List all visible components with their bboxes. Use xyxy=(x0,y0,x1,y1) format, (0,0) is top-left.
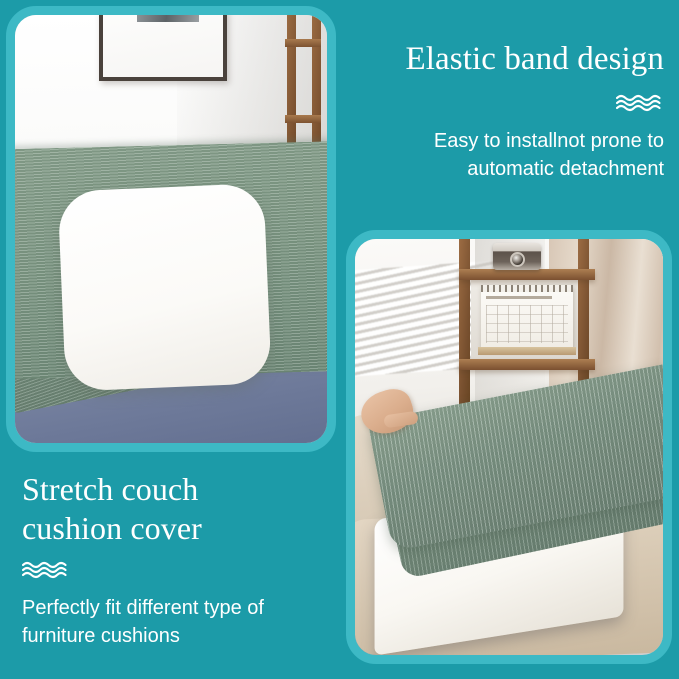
green-ribbed-cover xyxy=(15,141,327,380)
desk-calendar xyxy=(481,285,573,349)
calendar-header xyxy=(486,296,552,299)
wave-divider xyxy=(22,560,322,582)
shelf-board-top xyxy=(285,39,321,47)
text-block-bottom-left: Stretch couch cushion cover Perfectly fi… xyxy=(22,470,322,651)
product-feature-graphic: Elastic band design Easy to installnot p… xyxy=(0,0,679,679)
photo-top-left-scene xyxy=(15,15,327,443)
text-block-top-right: Elastic band design Easy to installnot p… xyxy=(352,40,664,183)
wave-divider xyxy=(352,93,664,115)
calendar-spiral-binding xyxy=(481,285,573,292)
subtext-perfectly-fit: Perfectly fit different type of furnitur… xyxy=(22,594,322,651)
headline-stretch-couch-cushion-cover: Stretch couch cushion cover xyxy=(22,470,322,548)
photo-right-scene xyxy=(355,239,663,655)
calendar-date-grid xyxy=(486,305,568,343)
white-cushion xyxy=(58,183,272,391)
shelf-board-top xyxy=(459,269,595,280)
shelf-board-middle xyxy=(285,115,321,123)
wave-divider-icon xyxy=(22,560,70,580)
frame-artwork xyxy=(137,15,199,22)
subtext-easy-to-install: Easy to installnot prone to automatic de… xyxy=(352,127,664,184)
framed-picture xyxy=(99,15,227,81)
headline-elastic-band-design: Elastic band design xyxy=(352,40,664,79)
shelf-board-bottom xyxy=(459,359,595,370)
wave-divider-icon xyxy=(616,93,664,113)
calendar-stand xyxy=(478,347,576,355)
vintage-camera xyxy=(493,243,541,270)
photo-panel-top-left xyxy=(6,6,336,452)
camera-lens xyxy=(510,252,525,267)
photo-panel-right xyxy=(346,230,672,664)
